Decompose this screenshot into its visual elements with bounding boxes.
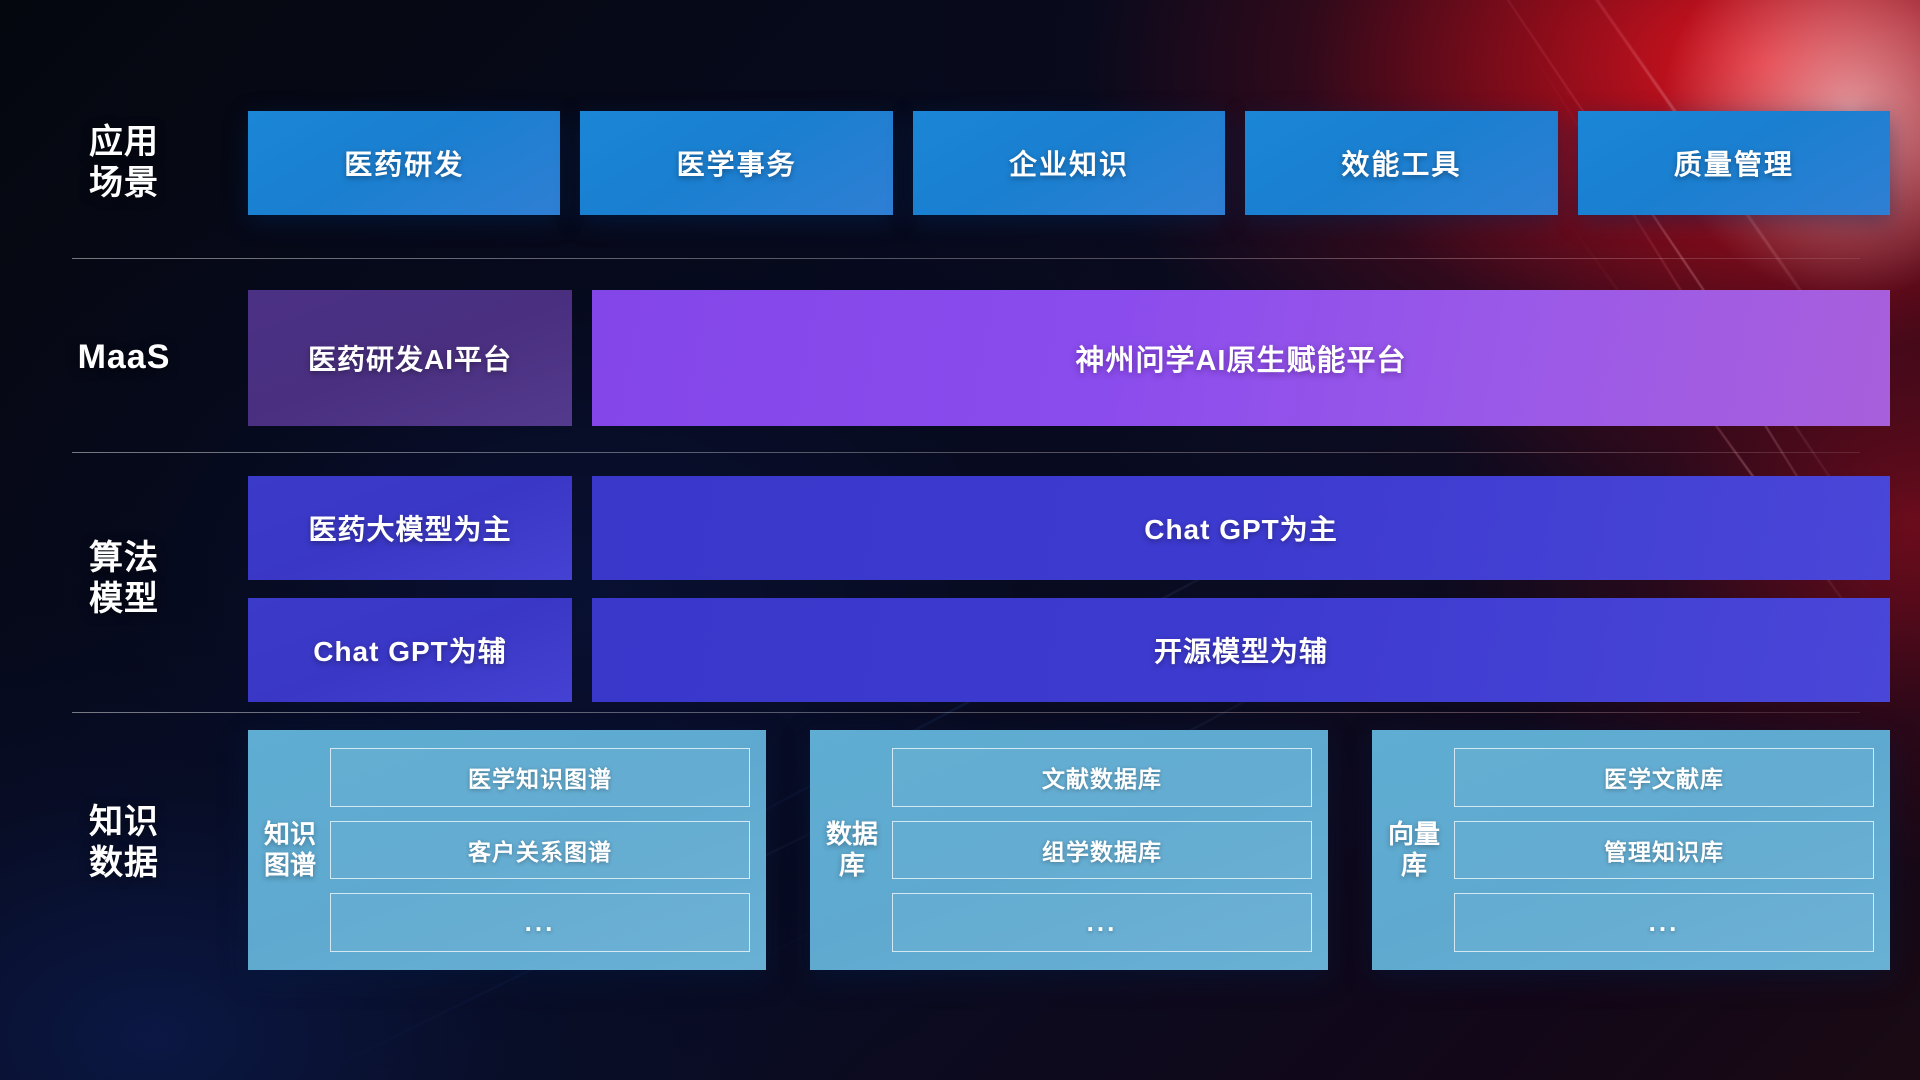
- divider-2: [72, 452, 1860, 453]
- algo-line-2: Chat GPT为辅 开源模型为辅: [248, 598, 1890, 702]
- app-box-4[interactable]: 效能工具: [1245, 111, 1557, 215]
- algo-box-secondary-general-label: 开源模型为辅: [1154, 630, 1328, 670]
- app-box-1[interactable]: 医药研发: [248, 111, 560, 215]
- knowledge-item-database-more[interactable]: ...: [892, 893, 1312, 952]
- row-knowledge-data: 知识 数据 知识图谱 医学知识图谱 客户关系图谱 ... 数据库 文献数据库 组…: [0, 730, 1920, 980]
- app-box-5-label: 质量管理: [1674, 143, 1794, 183]
- divider-1: [72, 258, 1860, 259]
- row-algorithm-models: 算法 模型 医药大模型为主 Chat GPT为主 Chat GPT为辅 开源模型…: [0, 476, 1920, 712]
- architecture-diagram: 应用 场景 医药研发 医学事务 企业知识 效能工具 质量管理 MaaS 医药研发…: [0, 0, 1920, 1080]
- app-box-2[interactable]: 医学事务: [580, 111, 892, 215]
- knowledge-group-database-title: 数据库: [826, 748, 878, 952]
- row-body-algorithm-models: 医药大模型为主 Chat GPT为主 Chat GPT为辅 开源模型为辅: [248, 476, 1920, 702]
- algo-box-primary-general[interactable]: Chat GPT为主: [592, 476, 1890, 580]
- slide-canvas: 应用 场景 医药研发 医学事务 企业知识 效能工具 质量管理 MaaS 医药研发…: [0, 0, 1920, 1080]
- knowledge-group-database-items: 文献数据库 组学数据库 ...: [892, 748, 1312, 952]
- knowledge-item-graph-more[interactable]: ...: [330, 893, 750, 952]
- app-box-3-label: 企业知识: [1009, 143, 1129, 183]
- algo-box-secondary-general[interactable]: 开源模型为辅: [592, 598, 1890, 702]
- knowledge-item-vector-2[interactable]: 管理知识库: [1454, 821, 1874, 880]
- knowledge-group-database[interactable]: 数据库 文献数据库 组学数据库 ...: [810, 730, 1328, 970]
- app-box-3[interactable]: 企业知识: [913, 111, 1225, 215]
- row-body-knowledge-data: 知识图谱 医学知识图谱 客户关系图谱 ... 数据库 文献数据库 组学数据库 .…: [248, 730, 1920, 970]
- knowledge-item-vector-more[interactable]: ...: [1454, 893, 1874, 952]
- knowledge-item-database-2[interactable]: 组学数据库: [892, 821, 1312, 880]
- knowledge-group-graph-items: 医学知识图谱 客户关系图谱 ...: [330, 748, 750, 952]
- app-box-4-label: 效能工具: [1341, 143, 1461, 183]
- knowledge-group-graph-title: 知识图谱: [264, 748, 316, 952]
- row-application-scenarios: 应用 场景 医药研发 医学事务 企业知识 效能工具 质量管理: [0, 108, 1920, 218]
- row-maas: MaaS 医药研发AI平台 神州问学AI原生赋能平台: [0, 288, 1920, 428]
- row-body-application-scenarios: 医药研发 医学事务 企业知识 效能工具 质量管理: [248, 111, 1920, 215]
- row-label-algorithm-models: 算法 模型: [0, 476, 248, 621]
- maas-right-label: 神州问学AI原生赋能平台: [1075, 337, 1406, 379]
- knowledge-item-database-1[interactable]: 文献数据库: [892, 748, 1312, 807]
- maas-platform-box-right[interactable]: 神州问学AI原生赋能平台: [592, 290, 1890, 426]
- algo-box-primary-general-label: Chat GPT为主: [1144, 508, 1338, 548]
- row-label-knowledge-data: 知识 数据: [0, 730, 248, 885]
- knowledge-item-graph-2[interactable]: 客户关系图谱: [330, 821, 750, 880]
- knowledge-group-vector[interactable]: 向量库 医学文献库 管理知识库 ...: [1372, 730, 1890, 970]
- knowledge-group-vector-title: 向量库: [1388, 748, 1440, 952]
- knowledge-item-vector-1[interactable]: 医学文献库: [1454, 748, 1874, 807]
- divider-3: [72, 712, 1860, 713]
- app-box-1-label: 医药研发: [344, 143, 464, 183]
- knowledge-item-graph-1[interactable]: 医学知识图谱: [330, 748, 750, 807]
- algo-box-secondary-domain[interactable]: Chat GPT为辅: [248, 598, 572, 702]
- knowledge-group-graph[interactable]: 知识图谱 医学知识图谱 客户关系图谱 ...: [248, 730, 766, 970]
- row-label-application-scenarios: 应用 场景: [0, 122, 248, 205]
- app-box-2-label: 医学事务: [677, 143, 797, 183]
- row-body-maas: 医药研发AI平台 神州问学AI原生赋能平台: [248, 290, 1920, 426]
- row-label-maas: MaaS: [0, 337, 248, 378]
- app-box-5[interactable]: 质量管理: [1578, 111, 1890, 215]
- knowledge-group-vector-items: 医学文献库 管理知识库 ...: [1454, 748, 1874, 952]
- algo-box-primary-domain[interactable]: 医药大模型为主: [248, 476, 572, 580]
- algo-box-secondary-domain-label: Chat GPT为辅: [313, 630, 507, 670]
- algo-line-1: 医药大模型为主 Chat GPT为主: [248, 476, 1890, 580]
- algo-box-primary-domain-label: 医药大模型为主: [308, 508, 511, 548]
- maas-platform-box-left[interactable]: 医药研发AI平台: [248, 290, 572, 426]
- maas-left-label: 医药研发AI平台: [308, 338, 512, 378]
